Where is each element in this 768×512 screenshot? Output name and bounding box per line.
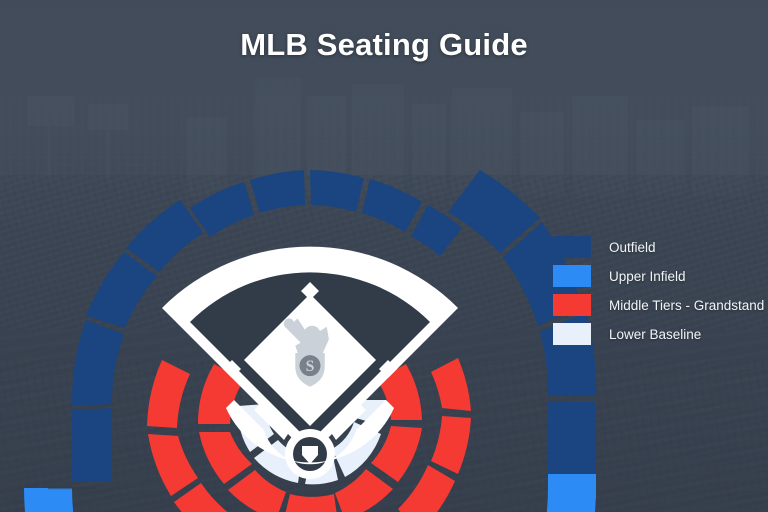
logo-letter: S [306, 358, 315, 375]
seating-guide-graphic: MLB Seating Guide [0, 0, 768, 512]
page-title: MLB Seating Guide [0, 27, 768, 63]
legend-label-outfield: Outfield [609, 240, 656, 255]
legend-swatch-middle-tiers-grandstand [553, 294, 591, 316]
legend-item-middle-tiers-grandstand[interactable]: Middle Tiers - Grandstand [553, 291, 753, 319]
legend-swatch-lower-baseline [553, 323, 591, 345]
legend-label-middle-tiers-grandstand: Middle Tiers - Grandstand [609, 298, 764, 313]
legend-label-upper-infield: Upper Infield [609, 269, 686, 284]
stadium-seating-map: S [60, 150, 560, 510]
legend-label-lower-baseline: Lower Baseline [609, 327, 701, 342]
legend: Outfield Upper Infield Middle Tiers - Gr… [553, 233, 753, 349]
legend-item-outfield[interactable]: Outfield [553, 233, 753, 261]
legend-swatch-outfield [553, 236, 591, 258]
legend-item-upper-infield[interactable]: Upper Infield [553, 262, 753, 290]
legend-swatch-upper-infield [553, 265, 591, 287]
legend-item-lower-baseline[interactable]: Lower Baseline [553, 320, 753, 348]
